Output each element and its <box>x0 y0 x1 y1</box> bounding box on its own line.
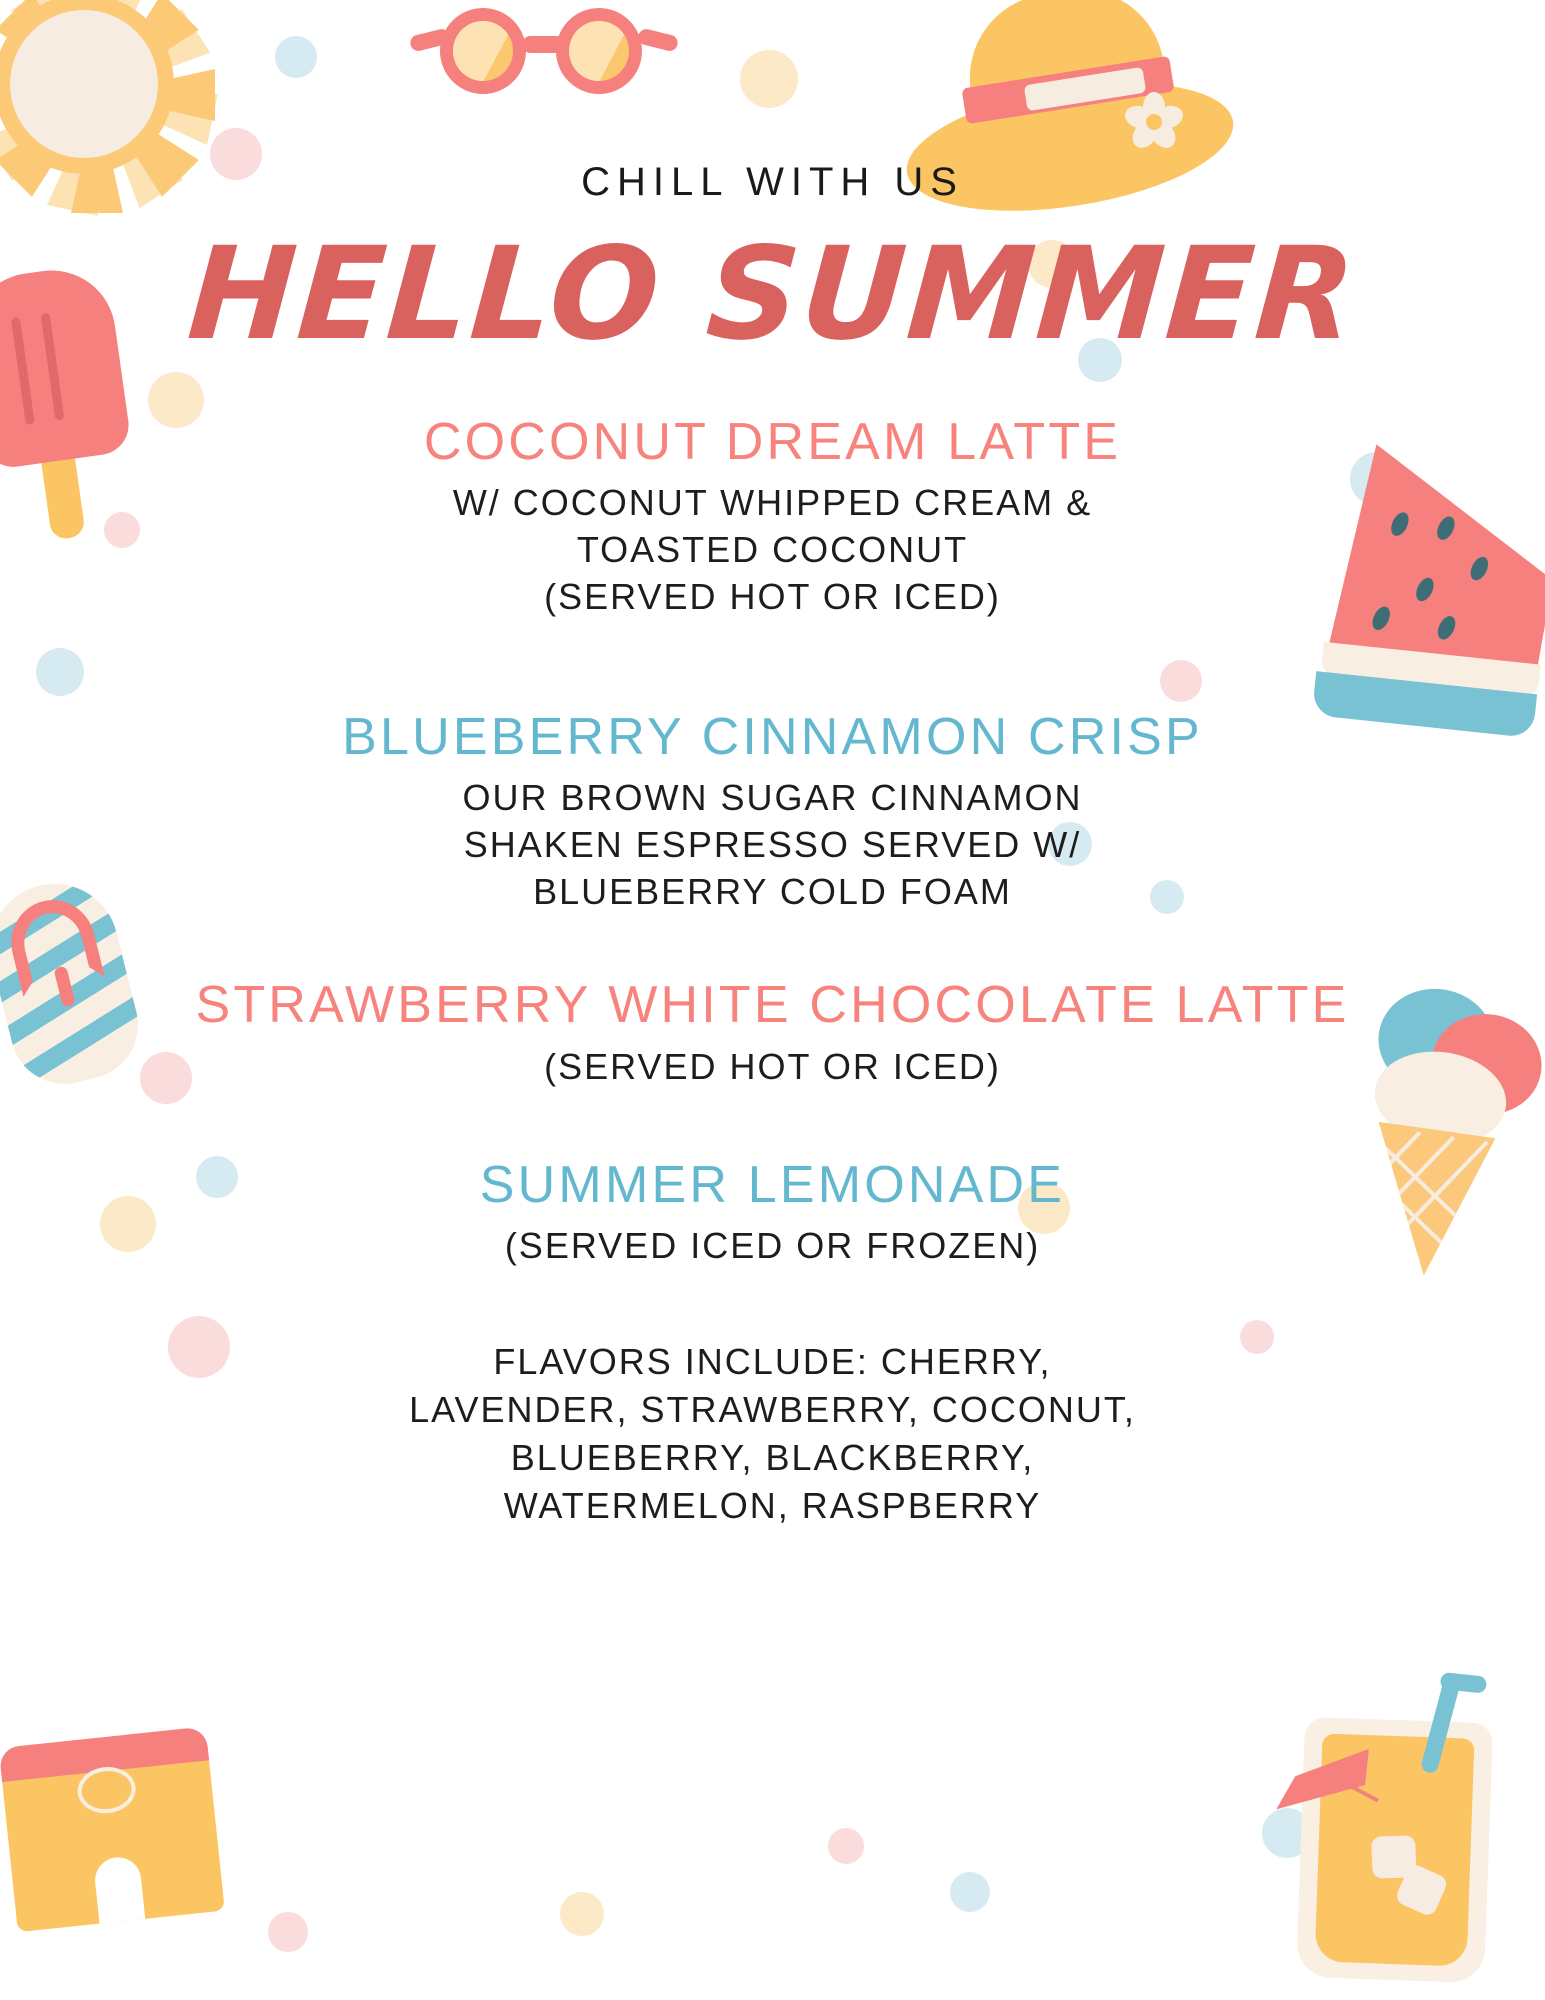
confetti-dot <box>36 648 84 696</box>
flavors-line: LAVENDER, STRAWBERRY, COCONUT, <box>140 1386 1405 1434</box>
confetti-dot <box>1160 660 1202 702</box>
confetti-dot <box>168 1316 230 1378</box>
popsicle-illustration <box>0 256 189 560</box>
menu-item-blueberry-cinnamon-crisp: BLUEBERRY CINNAMON CRISP OUR BROWN SUGAR… <box>140 707 1405 916</box>
menu-item-coconut-dream-latte: COCONUT DREAM LATTE W/ COCONUT WHIPPED C… <box>140 412 1405 621</box>
menu-item-description: W/ COCONUT WHIPPED CREAM & TOASTED COCON… <box>140 480 1405 620</box>
flavors-list: FLAVORS INCLUDE: CHERRY, LAVENDER, STRAW… <box>140 1338 1405 1531</box>
poster-headline: HELLO SUMMER <box>0 228 1545 362</box>
menu-item-title: STRAWBERRY WHITE CHOCOLATE LATTE <box>140 975 1405 1035</box>
description-line: SHAKEN ESPRESSO SERVED W/ <box>140 822 1405 869</box>
confetti-dot <box>1150 880 1184 914</box>
menu-item-description: (SERVED HOT OR ICED) <box>140 1044 1405 1091</box>
flavors-line: FLAVORS INCLUDE: CHERRY, <box>140 1338 1405 1386</box>
confetti-dot <box>560 1892 604 1936</box>
confetti-dot <box>275 36 317 78</box>
lemonade-glass-illustration <box>1258 1642 1545 2000</box>
spacer <box>140 1296 1405 1338</box>
spacer <box>140 941 1405 975</box>
menu-item-description: (SERVED ICED OR FROZEN) <box>140 1223 1405 1270</box>
description-line: BLUEBERRY COLD FOAM <box>140 869 1405 916</box>
menu-item-title: COCONUT DREAM LATTE <box>140 412 1405 472</box>
flavors-line: BLUEBERRY, BLACKBERRY, <box>140 1434 1405 1482</box>
confetti-dot <box>1018 1182 1070 1234</box>
menu-item-strawberry-white-chocolate-latte: STRAWBERRY WHITE CHOCOLATE LATTE (SERVED… <box>140 975 1405 1090</box>
confetti-dot <box>196 1156 238 1198</box>
confetti-dot <box>950 1872 990 1912</box>
description-line: (SERVED HOT OR ICED) <box>140 1044 1405 1091</box>
confetti-dot <box>1048 822 1092 866</box>
description-line: (SERVED ICED OR FROZEN) <box>140 1223 1405 1270</box>
confetti-dot <box>1078 338 1122 382</box>
swim-shorts-illustration <box>0 1723 261 1977</box>
description-line: W/ COCONUT WHIPPED CREAM & <box>140 480 1405 527</box>
confetti-dot <box>740 50 798 108</box>
description-line: (SERVED HOT OR ICED) <box>140 574 1405 621</box>
sun-hat-illustration <box>905 0 1235 220</box>
sunglasses-illustration <box>440 8 650 100</box>
summer-menu-poster: CHILL WITH US HELLO SUMMER COCONUT DREAM… <box>0 0 1545 2000</box>
confetti-dot <box>268 1912 308 1952</box>
menu-item-title-line: STRAWBERRY WHITE <box>195 976 791 1034</box>
spacer <box>140 647 1405 707</box>
confetti-dot <box>100 1196 156 1252</box>
menu-item-title: SUMMER LEMONADE <box>140 1155 1405 1215</box>
watermelon-slice-illustration <box>1315 442 1545 758</box>
description-line: TOASTED COCONUT <box>140 527 1405 574</box>
spacer <box>140 1117 1405 1155</box>
menu-list: COCONUT DREAM LATTE W/ COCONUT WHIPPED C… <box>140 412 1405 1531</box>
sun-illustration <box>0 0 232 220</box>
menu-item-description: OUR BROWN SUGAR CINNAMON SHAKEN ESPRESSO… <box>140 775 1405 915</box>
confetti-dot <box>828 1828 864 1864</box>
flip-flop-illustration <box>0 865 173 1105</box>
confetti-dot <box>1028 240 1076 288</box>
menu-item-summer-lemonade: SUMMER LEMONADE (SERVED ICED OR FROZEN) <box>140 1155 1405 1270</box>
description-line: OUR BROWN SUGAR CINNAMON <box>140 775 1405 822</box>
flavors-line: WATERMELON, RASPBERRY <box>140 1482 1405 1530</box>
menu-item-title: BLUEBERRY CINNAMON CRISP <box>140 707 1405 767</box>
menu-item-title-line: CHOCOLATE LATTE <box>809 976 1349 1034</box>
confetti-dot <box>1240 1320 1274 1354</box>
ice-cream-cone-illustration <box>1312 976 1545 1283</box>
